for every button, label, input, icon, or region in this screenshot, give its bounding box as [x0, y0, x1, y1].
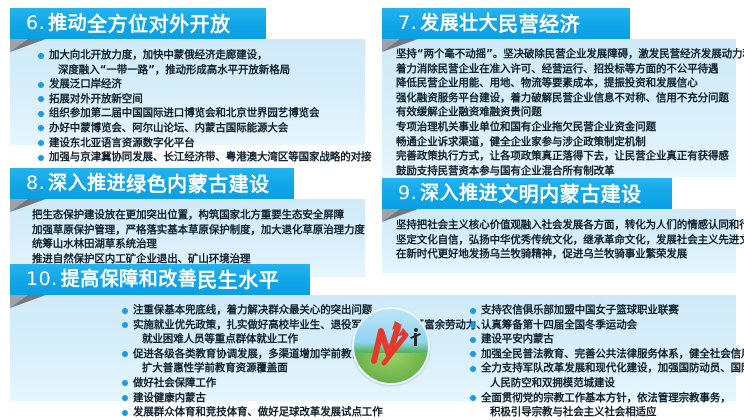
- section-number-9: 9.: [398, 184, 417, 203]
- list-line: 坚定文化自信，弘扬中华优秀传统文化，继承革命文化，发展社会主义先进文化: [396, 233, 732, 248]
- list-item: 坚持“两个毫不动摇”。坚决破除民营企业发展障碍，激发民营经济发展动力和活力: [396, 47, 732, 62]
- infographic-page: 6. 推动 全方位对外开放 加大向北开放力度，加快中蒙俄经济走廊建设，深度融入“…: [0, 0, 744, 401]
- section-card-10: 10. 提高保障和改善 民生水平: [10, 264, 736, 401]
- list-line: 把生态保护建设放在更加突出位置，构筑国家北方重要生态安全屏障: [32, 208, 359, 223]
- list-line: 发展泛口岸经济: [49, 77, 359, 92]
- bullet-dot-icon: [470, 322, 476, 328]
- list-line: 建设东北亚语言资源数字化平台: [49, 136, 359, 151]
- section-body-10: 注重保基本兜底线，着力解决群众最关心的突出问题 实施就业优先政策，扎实做好高校毕…: [10, 295, 736, 401]
- list-line: 办好中蒙博览会、阿尔山论坛、内蒙古国际能源大会: [49, 121, 359, 136]
- bullet-dot-icon: [122, 322, 128, 328]
- list-line: 坚持把社会主义核心价值观融入社会发展各方面，转化为人们的情感认同和行为习惯: [396, 218, 732, 233]
- section-number-10: 10.: [26, 270, 58, 289]
- list-line: 强化融资服务平台建设，着力破解民营企业信息不对称、信用不充分问题: [396, 91, 732, 106]
- list-item: 办好中蒙博览会、阿尔山论坛、内蒙古国际能源大会: [38, 121, 359, 136]
- bullet-dot-icon: [38, 53, 44, 59]
- bullet-list-6: 加大向北开放力度，加快中蒙俄经济走廊建设，深度融入“一带一路”，推动形成高水平开…: [38, 48, 359, 165]
- list-item: 在新时代更好地发扬乌兰牧骑精神，促进乌兰牧骑事业繁荣发展: [396, 247, 732, 262]
- list-line: 加强与京津冀协同发展、长江经济带、粤港澳大湾区等国家战略的对接: [49, 150, 359, 165]
- section-header-6: 6. 推动 全方位对外开放: [10, 8, 266, 39]
- list-line: 在新时代更好地发扬乌兰牧骑精神，促进乌兰牧骑事业繁荣发展: [396, 247, 732, 262]
- section-10-right-column: 支持农信俱乐部加盟中国女子篮球职业联赛 认真筹备第十四届全国冬季运动会 建设平安…: [414, 295, 736, 401]
- list-item: 建设健康内蒙古: [122, 391, 414, 406]
- bullet-dot-icon: [38, 111, 44, 117]
- section-title-normal-10: 提高保障和改善: [61, 270, 198, 289]
- list-item: 建设平安内蒙古: [470, 332, 736, 347]
- bullet-dot-icon: [470, 351, 476, 357]
- section-card-8: 8. 深入推进 绿色内蒙古建设 把生态保护建设放在更加突出位置，构筑国家北方重要…: [10, 168, 365, 277]
- section-header-8: 8. 深入推进 绿色内蒙古建设: [10, 168, 294, 199]
- section-title-normal-7: 发展壮大: [420, 14, 498, 33]
- section-title-bold-10: 民生水平: [197, 270, 279, 290]
- list-item: 加强全民普法教育、完善公共法律服务体系，健全社会信用体系: [470, 347, 736, 362]
- list-item: 认真筹备第十四届全国冬季运动会: [470, 318, 736, 333]
- list-line: 全力支持军队改革发展和现代化建设，加强国防动员、国防教育、: [481, 361, 736, 376]
- section-number-6: 6.: [26, 14, 45, 33]
- list-line: 加大向北开放力度，加快中蒙俄经济走廊建设，: [49, 48, 359, 63]
- fold-corner-9: [382, 209, 418, 222]
- bullet-dot-icon: [38, 96, 44, 102]
- list-line: 加强全民普法教育、完善公共法律服务体系，健全社会信用体系: [481, 347, 736, 362]
- list-line: 全面贯彻党的宗教工作基本方针，依法管理宗教事务，: [481, 391, 736, 406]
- list-item: 强化融资服务平台建设，着力破解民营企业信息不对称、信用不充分问题: [396, 91, 732, 106]
- list-item: 畅通企业诉求渠道，健全企业家参与涉企政策制定机制: [396, 135, 732, 150]
- bullet-dot-icon: [38, 155, 44, 161]
- list-line: 人民防空和双拥模范城建设: [481, 376, 736, 391]
- bullet-dot-icon: [122, 308, 128, 314]
- section-header-7: 7. 发展壮大 民营经济: [382, 8, 630, 39]
- section-card-7: 7. 发展壮大 民营经济 坚持“两个毫不动摇”。坚决破除民营企业发展障碍，激发民…: [382, 8, 736, 177]
- list-item: 有效缓解企业融资难融资贵问题: [396, 105, 732, 120]
- list-item: 降低民营企业用能、用地、物流等要素成本，提振投资和发展信心: [396, 76, 732, 91]
- list-item: 全面贯彻党的宗教工作基本方针，依法管理宗教事务，积极引导宗教与社会主义社会相适应: [470, 391, 736, 420]
- bullet-dot-icon: [122, 380, 128, 386]
- section-body-7: 坚持“两个毫不动摇”。坚决破除民营企业发展障碍，激发民营经济发展动力和活力 着力…: [382, 39, 736, 177]
- list-item: 加强草原保护管理，严格落实基本草原保护制度，加大退化草原治理力度: [32, 223, 359, 238]
- list-line: 认真筹备第十四届全国冬季运动会: [481, 318, 736, 333]
- list-line: 专项治理机关事业单位和国有企业拖欠民营企业资金问题: [396, 120, 732, 135]
- list-line: 拓展对外开放新空间: [49, 92, 359, 107]
- list-line: 降低民营企业用能、用地、物流等要素成本，提振投资和发展信心: [396, 76, 732, 91]
- list-line: 坚持“两个毫不动摇”。坚决破除民营企业发展障碍，激发民营经济发展动力和活力: [396, 47, 732, 62]
- bullet-dot-icon: [38, 125, 44, 131]
- list-item: 加强与京津冀协同发展、长江经济带、粤港澳大湾区等国家战略的对接: [38, 150, 359, 165]
- list-item: 组织参加第二届中国国际进口博览会和北京世界园艺博览会: [38, 106, 359, 121]
- list-item: 发展泛口岸经济: [38, 77, 359, 92]
- list-item: 坚持把社会主义核心价值观融入社会发展各方面，转化为人们的情感认同和行为习惯: [396, 218, 732, 233]
- list-item: 统筹山水林田湖草系统治理: [32, 237, 359, 252]
- list-item: 着力消除民营企业在准入许可、经营运行、招投标等方面的不公平待遇: [396, 62, 732, 77]
- list-item: 把生态保护建设放在更加突出位置，构筑国家北方重要生态安全屏障: [32, 208, 359, 223]
- section-number-7: 7.: [398, 14, 417, 33]
- bullet-dot-icon: [470, 337, 476, 343]
- section-title-bold-7: 民营经济: [498, 14, 580, 34]
- bullet-dot-icon: [38, 82, 44, 88]
- list-line: 畅通企业诉求渠道，健全企业家参与涉企政策制定机制: [396, 135, 732, 150]
- bullet-dot-icon: [470, 366, 476, 372]
- section-body-6: 加大向北开放力度，加快中蒙俄经济走廊建设，深度融入“一带一路”，推动形成高水平开…: [10, 39, 365, 145]
- growth-chart-icon: [352, 307, 430, 385]
- list-line: 鼓励支持民营资本参与国有企业混合所有制改革: [396, 164, 732, 179]
- list-line: 积极引导宗教与社会主义社会相适应: [481, 405, 736, 420]
- bullet-dot-icon: [38, 140, 44, 146]
- list-line: 有效缓解企业融资难融资贵问题: [396, 105, 732, 120]
- list-line: 建设健康内蒙古: [133, 391, 414, 406]
- fold-corner-8: [10, 199, 46, 212]
- list-line: 着力消除民营企业在准入许可、经营运行、招投标等方面的不公平待遇: [396, 62, 732, 77]
- section-header-10: 10. 提高保障和改善 民生水平: [10, 264, 310, 295]
- bullet-dot-icon: [122, 410, 128, 416]
- section-title-bold-6: 全方位对外开放: [87, 14, 231, 34]
- list-line: 深度融入“一带一路”，推动形成高水平开放新格局: [49, 63, 359, 78]
- section-title-bold-8: 绿色内蒙古建设: [126, 174, 270, 194]
- fold-corner-10: [10, 295, 46, 308]
- section-title-bold-9: 文明内蒙古建设: [498, 184, 642, 204]
- list-item: 建设东北亚语言资源数字化平台: [38, 136, 359, 151]
- list-item: 鼓励支持民营资本参与国有企业混合所有制改革: [396, 164, 732, 179]
- text-list-9: 坚持把社会主义核心价值观融入社会发展各方面，转化为人们的情感认同和行为习惯 坚定…: [396, 218, 732, 262]
- bullet-list-10-right: 支持农信俱乐部加盟中国女子篮球职业联赛 认真筹备第十四届全国冬季运动会 建设平安…: [470, 303, 736, 420]
- flower-balloon-graphic: [0, 293, 16, 397]
- section-title-normal-6: 推动: [48, 14, 87, 33]
- bullet-dot-icon: [470, 395, 476, 401]
- list-line: 统筹山水林田湖草系统治理: [32, 237, 359, 252]
- bullet-dot-icon: [122, 395, 128, 401]
- fold-corner-6: [10, 39, 46, 52]
- fold-corner-7: [382, 39, 418, 52]
- list-item: 发展群众体育和竞技体育、做好足球改革发展试点工作: [122, 405, 414, 420]
- bullet-dot-icon: [122, 351, 128, 357]
- person-icon: [414, 333, 417, 346]
- arrow-graphic: [354, 309, 428, 383]
- list-item: 专项治理机关事业单位和国有企业拖欠民营企业资金问题: [396, 120, 732, 135]
- section-header-9: 9. 深入推进 文明内蒙古建设: [382, 178, 672, 209]
- section-card-6: 6. 推动 全方位对外开放 加大向北开放力度，加快中蒙俄经济走廊建设，深度融入“…: [10, 8, 365, 145]
- section-title-normal-8: 深入推进: [48, 174, 126, 193]
- list-line: 加强草原保护管理，严格落实基本草原保护制度，加大退化草原治理力度: [32, 223, 359, 238]
- list-item: 全力支持军队改革发展和现代化建设，加强国防动员、国防教育、人民防空和双拥模范城建…: [470, 361, 736, 390]
- bullet-dot-icon: [470, 308, 476, 314]
- list-item: 加大向北开放力度，加快中蒙俄经济走廊建设，深度融入“一带一路”，推动形成高水平开…: [38, 48, 359, 77]
- section-title-normal-9: 深入推进: [420, 184, 498, 203]
- list-item: 坚定文化自信，弘扬中华优秀传统文化，继承革命文化，发展社会主义先进文化: [396, 233, 732, 248]
- list-item: 拓展对外开放新空间: [38, 92, 359, 107]
- list-line: 发展群众体育和竞技体育、做好足球改革发展试点工作: [133, 405, 414, 420]
- list-line: 建设平安内蒙古: [481, 332, 736, 347]
- section-body-9: 坚持把社会主义核心价值观融入社会发展各方面，转化为人们的情感认同和行为习惯 坚定…: [382, 209, 736, 273]
- list-item: 支持农信俱乐部加盟中国女子篮球职业联赛: [470, 303, 736, 318]
- list-line: 支持农信俱乐部加盟中国女子篮球职业联赛: [481, 303, 736, 318]
- list-item: 完善政策执行方式，让各项政策真正落得下去，让民营企业真正有获得感: [396, 149, 732, 164]
- text-list-7: 坚持“两个毫不动摇”。坚决破除民营企业发展障碍，激发民营经济发展动力和活力 着力…: [396, 47, 732, 193]
- list-line: 完善政策执行方式，让各项政策真正落得下去，让民营企业真正有获得感: [396, 149, 732, 164]
- section-number-8: 8.: [26, 174, 45, 193]
- list-line: 组织参加第二届中国国际进口博览会和北京世界园艺博览会: [49, 106, 359, 121]
